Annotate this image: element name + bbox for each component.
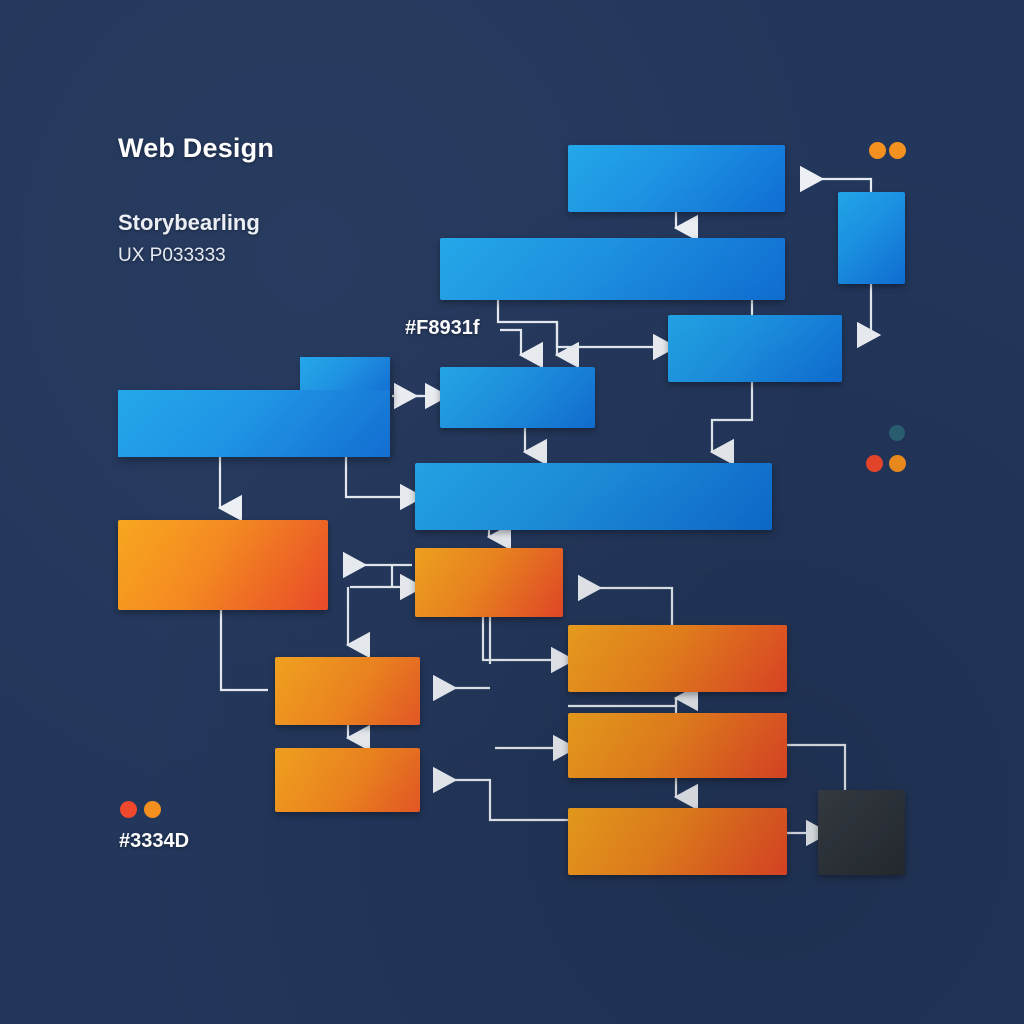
node-d1-dark[interactable] <box>818 790 905 875</box>
node-b6-lower <box>118 390 390 457</box>
node-o3[interactable] <box>275 657 420 725</box>
dot-bottom-left-orange <box>144 801 161 818</box>
hex-label-bottom: #3334D <box>119 830 189 853</box>
subtitle: Storybearling <box>118 210 260 236</box>
node-b6-upper <box>300 357 390 393</box>
edge-o5-o2 <box>578 588 672 625</box>
node-o1[interactable] <box>118 520 328 610</box>
edge-b3-b4 <box>857 284 871 335</box>
node-o5[interactable] <box>568 625 787 692</box>
node-b5[interactable] <box>440 367 595 428</box>
page-title: Web Design <box>118 133 274 164</box>
node-b7[interactable] <box>415 463 772 530</box>
edge-o6-o5 <box>568 698 676 706</box>
edge-hexlabel-b5 <box>500 330 521 355</box>
edge-b2-b4 <box>557 322 653 347</box>
node-b1[interactable] <box>568 145 785 212</box>
node-b2[interactable] <box>440 238 785 300</box>
dot-top-right-1 <box>869 142 886 159</box>
dot-bottom-left-red <box>120 801 137 818</box>
edge-o2-drop-a <box>483 617 551 660</box>
edge-o6-d1 <box>787 745 845 790</box>
node-o4[interactable] <box>275 748 420 812</box>
dot-mid-right-orange <box>889 455 906 472</box>
edge-b3-b1 <box>800 179 871 192</box>
node-o6[interactable] <box>568 713 787 778</box>
dot-top-right-2 <box>889 142 906 159</box>
edge-b6-b7 <box>346 457 400 497</box>
edge-b2-b5 <box>498 300 557 355</box>
edge-o7-o4 <box>433 780 568 820</box>
subtitle-code: UX P033333 <box>118 245 226 267</box>
node-b4[interactable] <box>668 315 842 382</box>
dot-mid-right-red <box>866 455 883 472</box>
node-b6-step[interactable] <box>118 357 390 457</box>
edge-b4-b7 <box>712 382 752 452</box>
node-o7[interactable] <box>568 808 787 875</box>
dot-mid-right-teal <box>889 425 905 441</box>
node-b3-tall[interactable] <box>838 192 905 284</box>
hex-label-middle: #F8931f <box>405 317 480 340</box>
node-o2[interactable] <box>415 548 563 617</box>
edge-o1-o3 <box>221 610 268 690</box>
flowchart-canvas: Web Design Storybearling UX P033333 #F89… <box>0 0 1024 1024</box>
